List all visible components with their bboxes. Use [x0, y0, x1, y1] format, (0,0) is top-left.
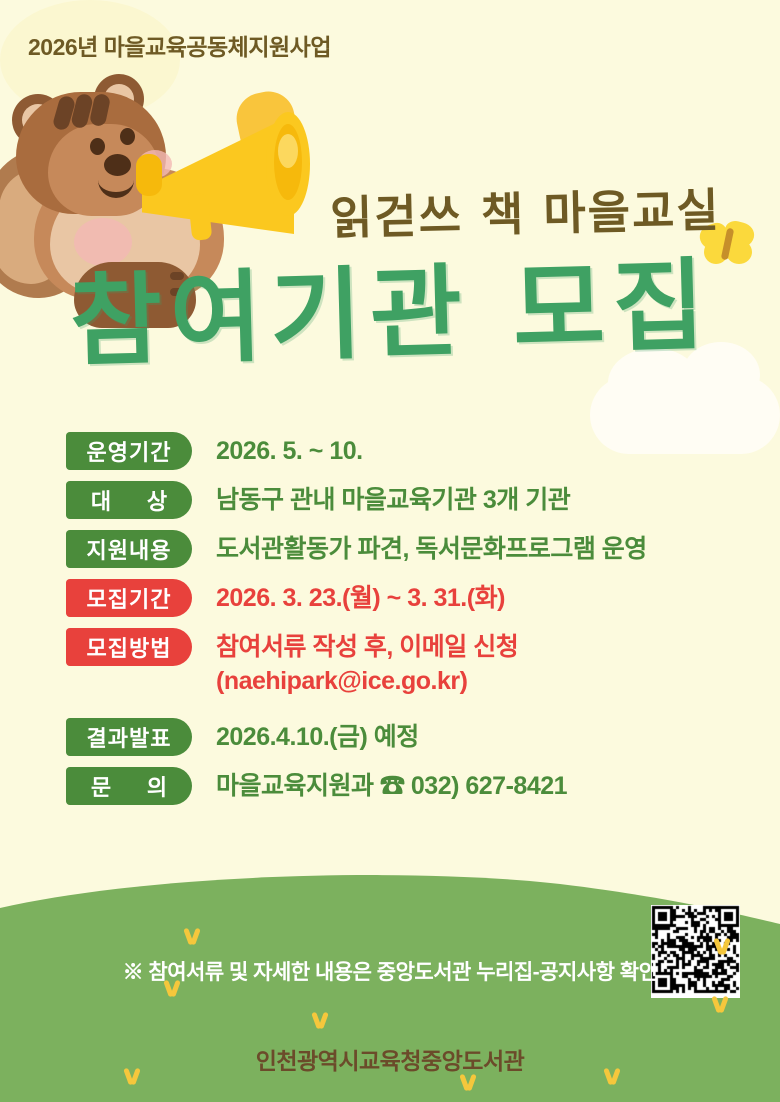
grass-sprout-icon	[126, 1068, 140, 1086]
organization-name: 인천광역시교육청중앙도서관	[0, 1042, 780, 1076]
info-row: 모집방법참여서류 작성 후, 이메일 신청(naehipark@ice.go.k…	[66, 628, 726, 698]
info-row-label: 지원내용	[66, 530, 192, 568]
info-row: 모집기간2026. 3. 23.(월) ~ 3. 31.(화)	[66, 579, 726, 617]
info-row-label: 모집방법	[66, 628, 192, 666]
page-title: 2026년 마을교육공동체지원사업	[28, 28, 331, 62]
grass-sprout-icon	[714, 996, 728, 1014]
footer-note: ※ 참여서류 및 자세한 내용은 중앙도서관 누리집-공지사항 확인	[0, 956, 780, 986]
poster-canvas: 2026년 마을교육공동체지원사업	[0, 0, 780, 1102]
info-row: 대 상남동구 관내 마을교육기관 3개 기관	[66, 481, 726, 519]
info-row-value: 참여서류 작성 후, 이메일 신청(naehipark@ice.go.kr)	[216, 628, 518, 698]
info-row-label: 모집기간	[66, 579, 192, 617]
info-row-label: 운영기간	[66, 432, 192, 470]
grass-sprout-icon	[166, 980, 180, 998]
info-list: 운영기간2026. 5. ~ 10.대 상남동구 관내 마을교육기관 3개 기관…	[66, 432, 726, 816]
info-row: 문 의마을교육지원과 ☎ 032) 627-8421	[66, 767, 726, 805]
grass-sprout-icon	[606, 1068, 620, 1086]
grass-sprout-icon	[186, 928, 200, 946]
info-row-value: 남동구 관내 마을교육기관 3개 기관	[216, 481, 570, 517]
info-row: 지원내용도서관활동가 파견, 독서문화프로그램 운영	[66, 530, 726, 568]
info-row: 결과발표2026.4.10.(금) 예정	[66, 718, 726, 756]
info-row: 운영기간2026. 5. ~ 10.	[66, 432, 726, 470]
info-row-value: 2026. 5. ~ 10.	[216, 432, 363, 468]
info-row-value: 2026.4.10.(금) 예정	[216, 718, 419, 754]
info-row-value: 마을교육지원과 ☎ 032) 627-8421	[216, 767, 567, 803]
info-row-value: 도서관활동가 파견, 독서문화프로그램 운영	[216, 530, 647, 566]
info-row-label: 문 의	[66, 767, 192, 805]
poster-main-title: 참여기관 모집	[69, 256, 714, 373]
info-row-label: 대 상	[66, 481, 192, 519]
info-row-value: 2026. 3. 23.(월) ~ 3. 31.(화)	[216, 579, 505, 615]
poster-subtitle: 읽걷쓰 책 마을교실	[329, 174, 721, 248]
grass-sprout-icon	[314, 1012, 328, 1030]
megaphone-icon	[140, 92, 320, 242]
grass-sprout-icon	[716, 938, 730, 956]
info-row-label: 결과발표	[66, 718, 192, 756]
grass-sprout-icon	[462, 1074, 476, 1092]
